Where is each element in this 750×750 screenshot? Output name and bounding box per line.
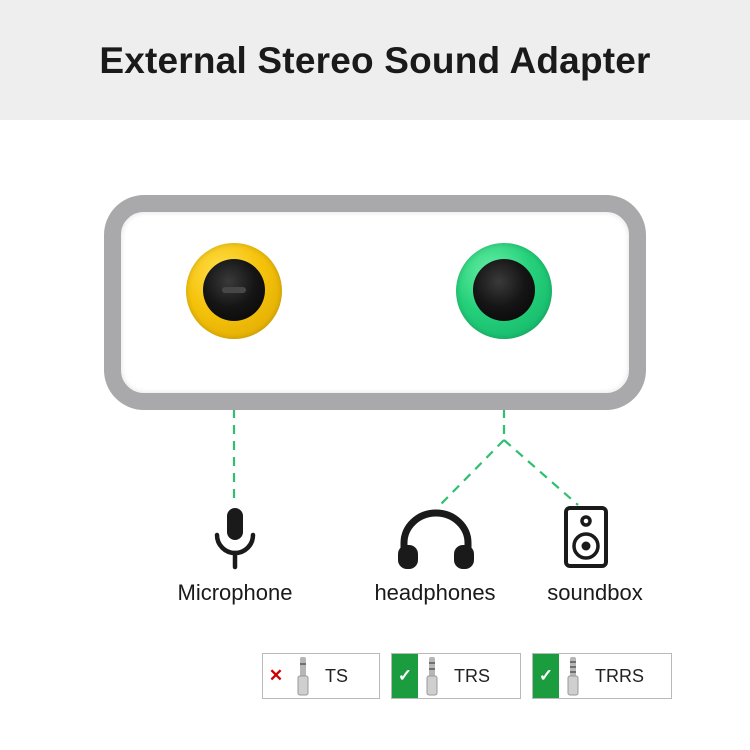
plug-label-trrs: TRRS [587,666,658,687]
microphone-icon [206,505,264,578]
plug-chip-ts: ✕ TS [262,653,380,699]
plug-label-trs: TRS [446,666,504,687]
headphone-jack-hole [473,259,535,321]
cross-icon: ✕ [263,654,289,698]
label-soundbox: soundbox [520,580,670,606]
trrs-plug-icon [559,654,587,698]
microphone-jack-slot [222,287,246,293]
label-headphones: headphones [350,580,520,606]
plug-chip-trrs: ✓ TRRS [532,653,672,699]
line-soundbox-branch [504,440,578,505]
headphones-icon [396,509,476,576]
trs-plug-icon [418,654,446,698]
check-icon: ✓ [392,654,418,698]
plug-support-row: ✕ TS ✓ TRS ✓ [262,653,672,699]
plug-label-ts: TS [317,666,362,687]
adapter-body [104,195,646,410]
plug-chip-trs: ✓ TRS [391,653,521,699]
product-image: External Stereo Sound Adapter [0,0,750,750]
header-banner: External Stereo Sound Adapter [0,0,750,120]
label-microphone: Microphone [160,580,310,606]
ts-plug-icon [289,654,317,698]
line-hp-branch [440,440,504,505]
microphone-jack [186,243,282,339]
check-icon: ✓ [533,654,559,698]
headphone-jack [456,243,552,339]
page-title: External Stereo Sound Adapter [99,42,650,79]
speaker-icon [563,505,609,574]
